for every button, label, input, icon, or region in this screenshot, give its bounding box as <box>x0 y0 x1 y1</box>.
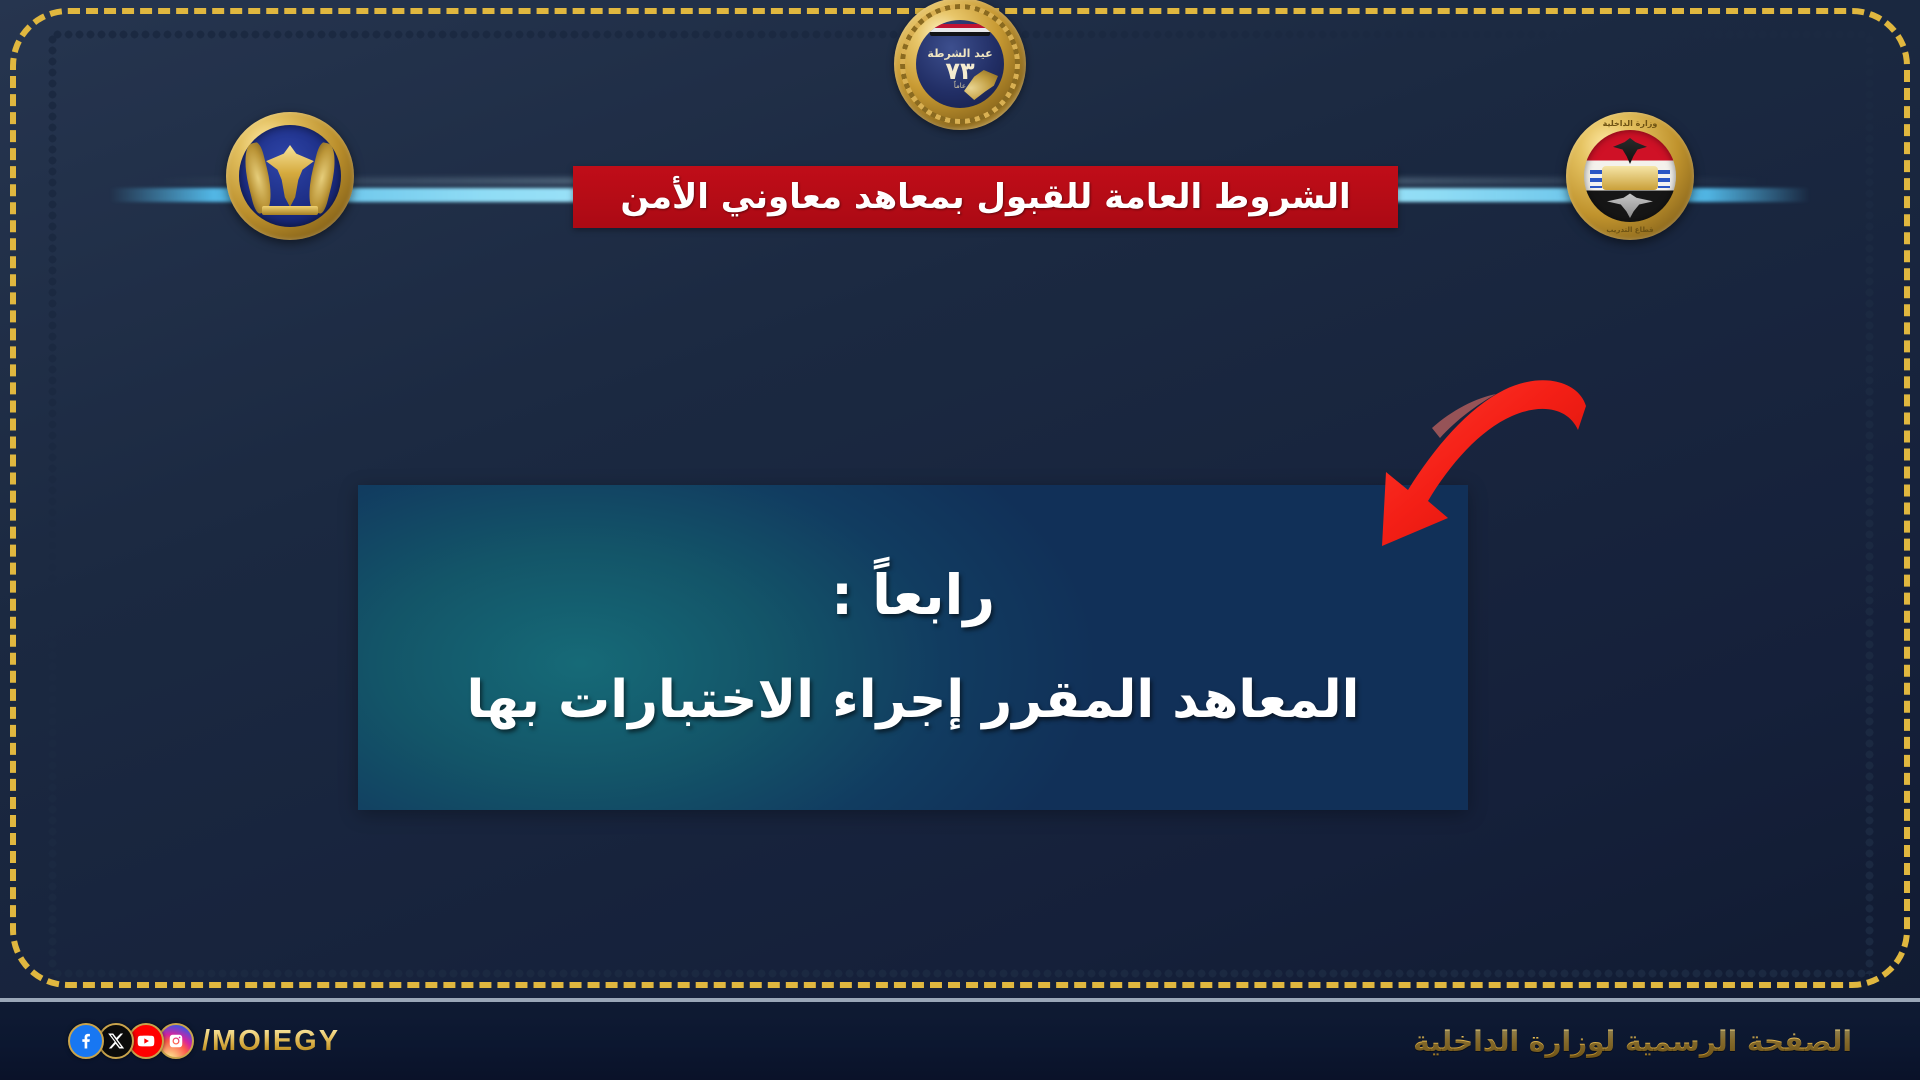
ministry-eagle-emblem-icon <box>226 112 354 240</box>
laurel-left <box>239 141 277 214</box>
medallion-bottom-text: عاماً <box>954 83 966 90</box>
social-handle[interactable]: /MOIEGY <box>202 1025 340 1058</box>
title-banner-text: الشروط العامة للقبول بمعاهد معاوني الأمن <box>620 177 1350 217</box>
laurel-right <box>303 141 341 214</box>
police-day-medallion-icon: عيد الشرطة ٧٣ عاماً <box>894 0 1026 130</box>
social-links-group[interactable]: /MOIEGY <box>68 1023 340 1059</box>
slide-canvas: عيد الشرطة ٧٣ عاماً وزارة الداخلية <box>0 0 1920 1080</box>
content-heading: رابعاً : <box>831 562 995 628</box>
footer-bar: الصفحة الرسمية لوزارة الداخلية /MOIEGY <box>0 998 1920 1080</box>
emblem-ring-top-text: وزارة الداخلية <box>1566 119 1694 128</box>
medallion-number: ٧٣ <box>945 59 974 83</box>
content-box: رابعاً : المعاهد المقرر إجراء الاختبارات… <box>358 485 1468 810</box>
emblem-bottom-eagle <box>1607 192 1653 218</box>
emblem-shield <box>1602 166 1658 190</box>
emblem-ring-bottom-text: قطاع التدريب <box>1566 226 1694 234</box>
medallion-wing <box>964 70 998 100</box>
title-banner: الشروط العامة للقبول بمعاهد معاوني الأمن <box>573 166 1398 228</box>
official-page-label: الصفحة الرسمية لوزارة الداخلية <box>1413 1025 1852 1058</box>
eagle-pedestal <box>262 206 318 215</box>
content-subheading: المعاهد المقرر إجراء الاختبارات بها <box>467 668 1360 733</box>
emblem-top-eagle <box>1613 138 1647 164</box>
emblem-bars-left <box>1590 170 1602 188</box>
emblem-bars-right <box>1658 170 1670 188</box>
medallion-flag-stripe <box>930 24 990 36</box>
ministry-flag-emblem-icon: وزارة الداخلية قطاع التدريب <box>1566 112 1694 240</box>
eagle-figure <box>264 145 316 207</box>
medallion-top-text: عيد الشرطة <box>927 48 992 59</box>
facebook-icon[interactable] <box>68 1023 104 1059</box>
